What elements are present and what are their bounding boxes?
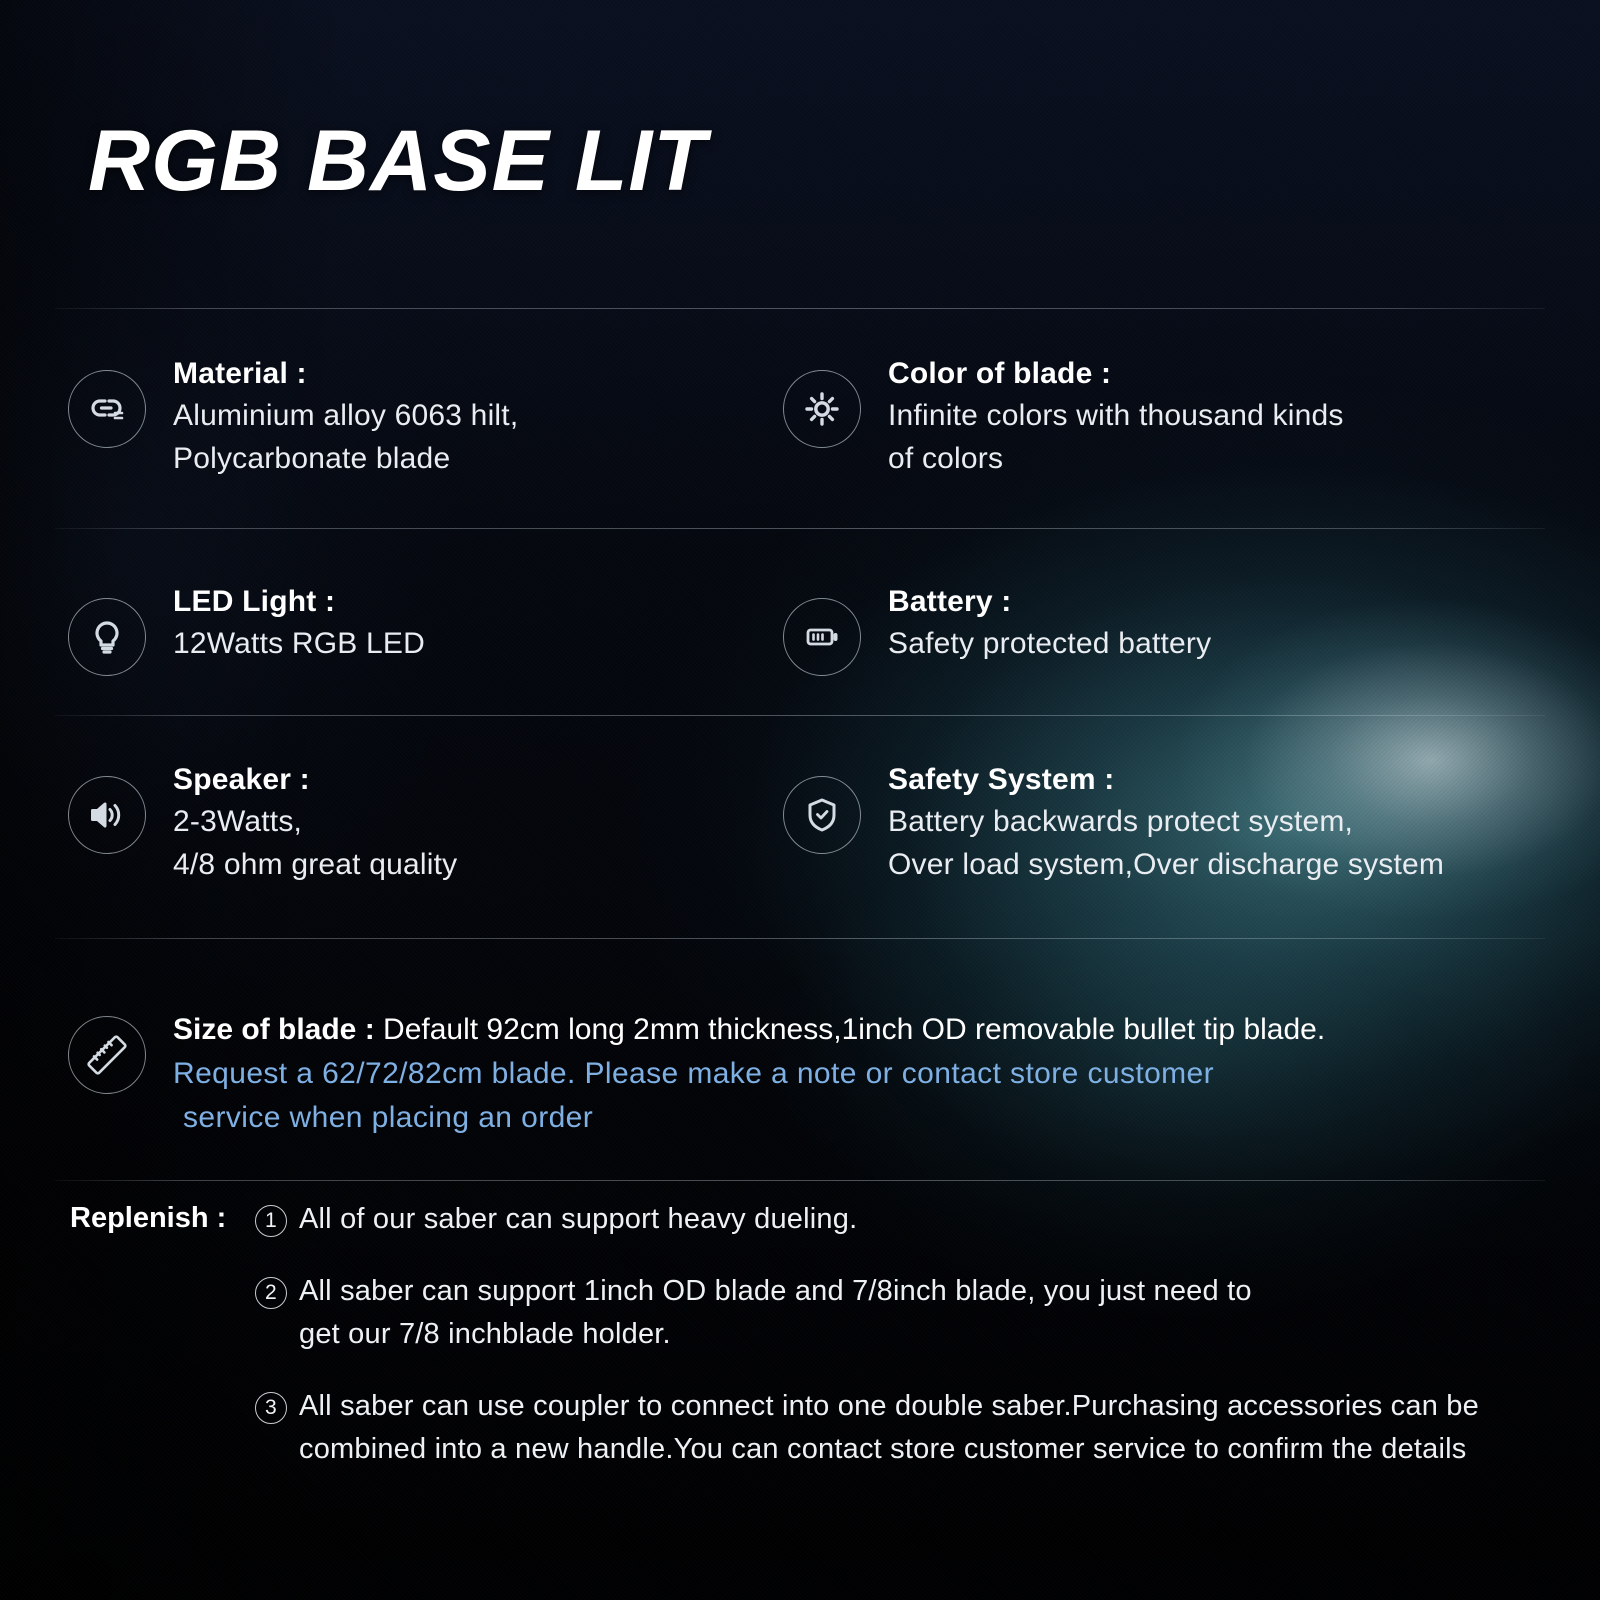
speaker-icon <box>68 776 146 854</box>
brightness-sun-icon <box>783 370 861 448</box>
size-of-blade-line: Size of blade : Default 92cm long 2mm th… <box>173 1008 1325 1052</box>
feature-line-1: Battery backwards protect system, <box>888 800 1444 844</box>
feature-line-1: 12Watts RGB LED <box>173 622 425 666</box>
list-item-text: All saber can use coupler to connect int… <box>299 1385 1479 1472</box>
feature-line-1: 2-3Watts, <box>173 800 457 844</box>
divider-3 <box>55 715 1545 716</box>
feature-title: Material : <box>173 354 518 394</box>
feature-title: LED Light : <box>173 582 425 622</box>
list-item-text: All of our saber can support heavy dueli… <box>299 1198 857 1242</box>
lightbulb-icon <box>68 598 146 676</box>
shield-check-icon <box>783 776 861 854</box>
size-of-blade-note-line-2: service when placing an order <box>173 1096 1325 1141</box>
size-of-blade-label: Size of blade : <box>173 1013 375 1046</box>
divider-2 <box>55 528 1545 529</box>
feature-line-1: Infinite colors with thousand kinds <box>888 394 1344 438</box>
feature-line-2: Over load system,Over discharge system <box>888 843 1444 887</box>
feature-color-of-blade: Color of blade : Infinite colors with th… <box>783 352 1573 481</box>
feature-line-1: Aluminium alloy 6063 hilt, <box>173 394 518 438</box>
feature-material: Material : Aluminium alloy 6063 hilt, Po… <box>68 352 768 481</box>
divider-4 <box>55 938 1545 939</box>
divider-5 <box>55 1180 1545 1181</box>
replenish-section: Replenish : 1 All of our saber can suppo… <box>70 1198 1570 1500</box>
battery-icon <box>783 598 861 676</box>
feature-safety-system: Safety System : Battery backwards protec… <box>783 758 1573 887</box>
list-item-text: All saber can support 1inch OD blade and… <box>299 1270 1252 1357</box>
feature-line-1: Safety protected battery <box>888 622 1211 666</box>
list-item-number: 2 <box>255 1277 287 1309</box>
size-of-blade-note: Request a 62/72/82cm blade. Please make … <box>173 1052 1325 1141</box>
feature-line-2: 4/8 ohm great quality <box>173 843 457 887</box>
list-item: 1 All of our saber can support heavy due… <box>255 1198 1570 1242</box>
feature-title: Color of blade : <box>888 354 1344 394</box>
feature-led-light: LED Light : 12Watts RGB LED <box>68 580 768 676</box>
feature-line-2: Polycarbonate blade <box>173 437 518 481</box>
feature-speaker: Speaker : 2-3Watts, 4/8 ohm great qualit… <box>68 758 768 887</box>
size-of-blade-note-line-1: Request a 62/72/82cm blade. Please make … <box>173 1057 1214 1090</box>
size-of-blade-value: Default 92cm long 2mm thickness,1inch OD… <box>383 1013 1325 1046</box>
feature-title: Battery : <box>888 582 1211 622</box>
divider-1 <box>55 308 1545 309</box>
replenish-list: 1 All of our saber can support heavy due… <box>255 1198 1570 1472</box>
feature-size-of-blade: Size of blade : Default 92cm long 2mm th… <box>68 1008 1568 1141</box>
replenish-heading: Replenish : <box>70 1202 226 1235</box>
list-item: 2 All saber can support 1inch OD blade a… <box>255 1270 1570 1357</box>
feature-battery: Battery : Safety protected battery <box>783 580 1573 676</box>
feature-line-2: of colors <box>888 437 1344 481</box>
list-item: 3 All saber can use coupler to connect i… <box>255 1385 1570 1472</box>
page-title: RGB BASE LIT <box>88 112 707 211</box>
list-item-number: 3 <box>255 1392 287 1424</box>
list-item-number: 1 <box>255 1205 287 1237</box>
feature-title: Speaker : <box>173 760 457 800</box>
feature-title: Safety System : <box>888 760 1444 800</box>
product-spec-banner: RGB BASE LIT Material : Aluminium alloy … <box>0 0 1600 1600</box>
ruler-icon <box>68 1016 146 1094</box>
chain-link-icon <box>68 370 146 448</box>
